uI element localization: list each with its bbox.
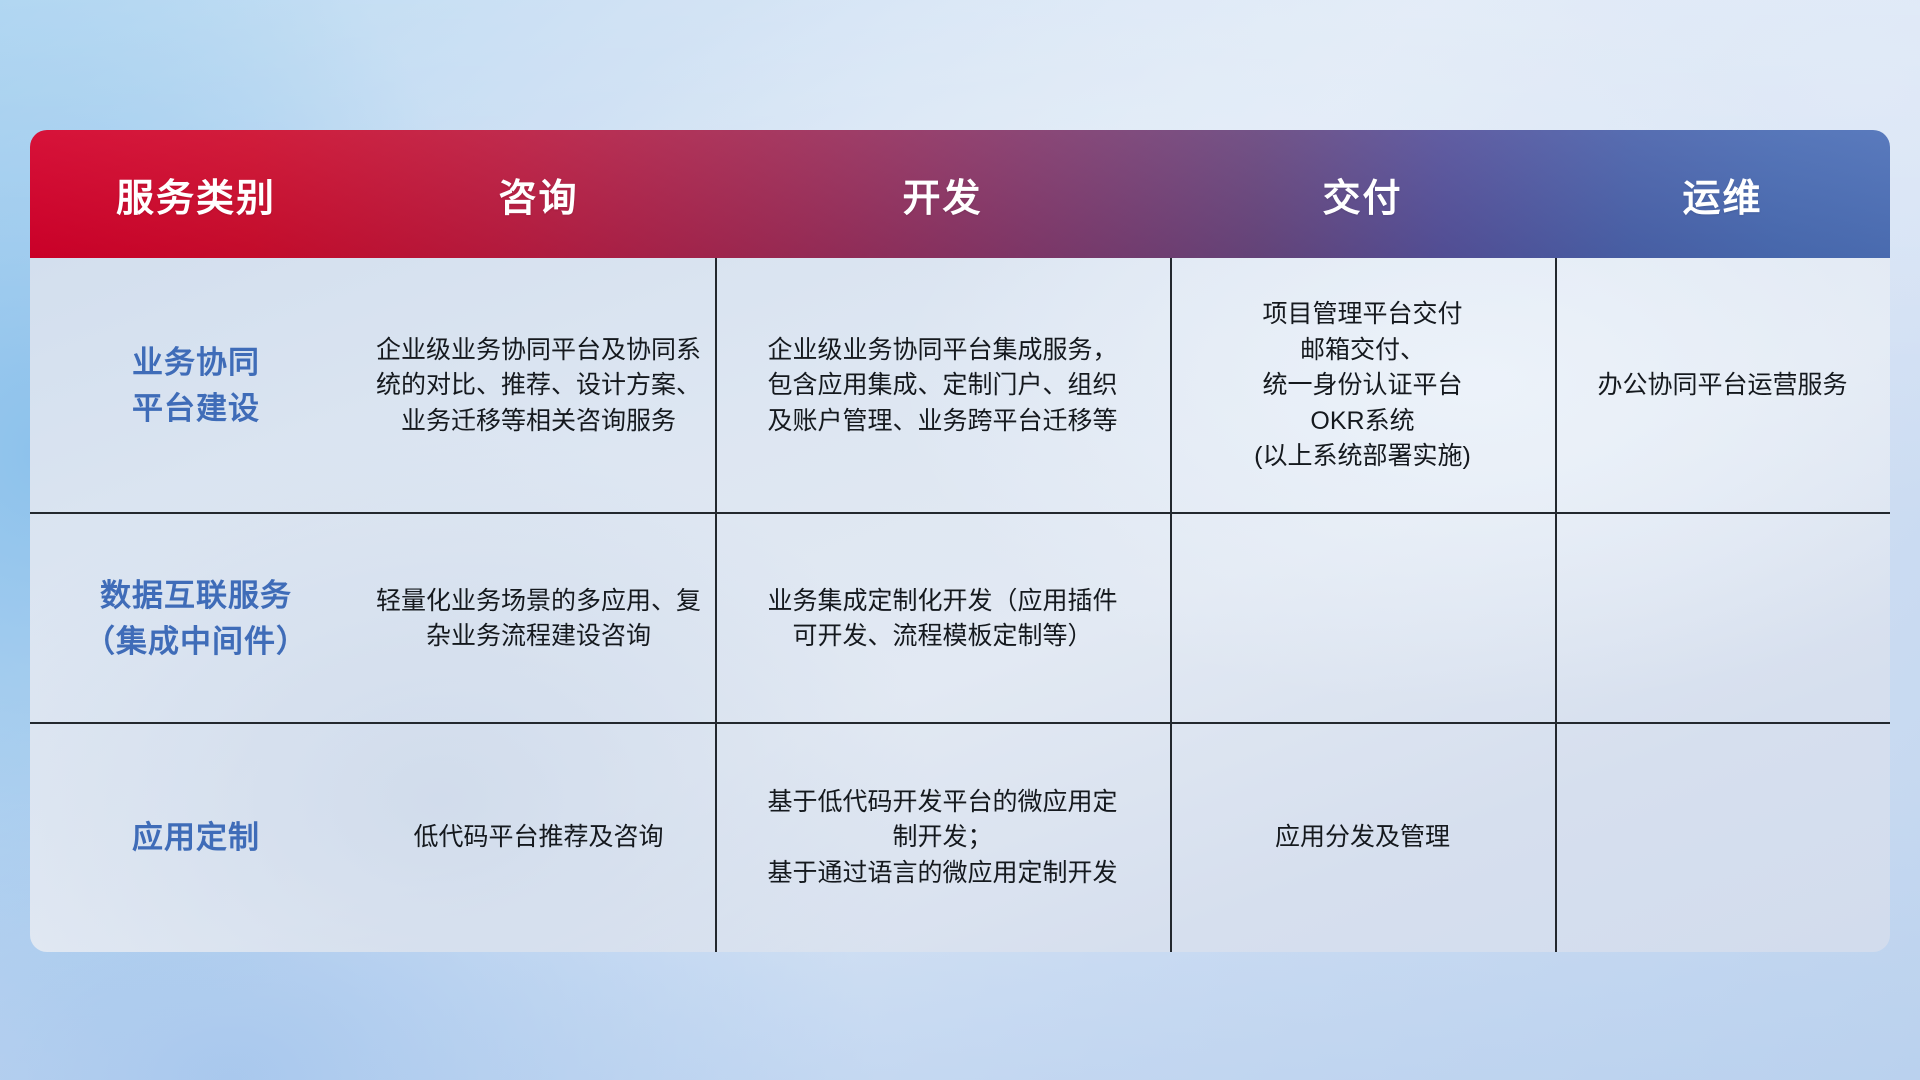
cell-delivery: 项目管理平台交付 邮箱交付、 统一身份认证平台 OKR系统 (以上系统部署实施) — [1170, 258, 1555, 514]
column-header-development: 开发 — [715, 130, 1170, 258]
cell-consulting: 轻量化业务场景的多应用、复 杂业务流程建设咨询 — [362, 514, 715, 724]
row-category-label: 应用定制 — [30, 724, 362, 952]
row-category-label: 业务协同 平台建设 — [30, 258, 362, 514]
cell-operations: 办公协同平台运营服务 — [1555, 258, 1890, 514]
service-matrix-table: 服务类别 咨询 开发 交付 运维 业务协同 平台建设 企业级业务协同平台及协同系… — [30, 130, 1890, 952]
table-row: 业务协同 平台建设 企业级业务协同平台及协同系 统的对比、推荐、设计方案、 业务… — [30, 258, 1890, 514]
vertical-divider-3 — [1555, 258, 1557, 952]
cell-development: 企业级业务协同平台集成服务， 包含应用集成、定制门户、组织 及账户管理、业务跨平… — [715, 258, 1170, 514]
table-body: 业务协同 平台建设 企业级业务协同平台及协同系 统的对比、推荐、设计方案、 业务… — [30, 258, 1890, 952]
cell-delivery — [1170, 514, 1555, 724]
row-divider-1 — [30, 512, 1890, 514]
column-header-delivery: 交付 — [1170, 130, 1555, 258]
row-category-label: 数据互联服务 （集成中间件） — [30, 514, 362, 724]
table-header-row: 服务类别 咨询 开发 交付 运维 — [30, 130, 1890, 258]
column-header-consulting: 咨询 — [362, 130, 715, 258]
cell-development: 基于低代码开发平台的微应用定 制开发； 基于通过语言的微应用定制开发 — [715, 724, 1170, 952]
cell-development: 业务集成定制化开发（应用插件 可开发、流程模板定制等） — [715, 514, 1170, 724]
cell-consulting: 企业级业务协同平台及协同系 统的对比、推荐、设计方案、 业务迁移等相关咨询服务 — [362, 258, 715, 514]
vertical-divider-1 — [715, 258, 717, 952]
column-header-category: 服务类别 — [30, 130, 362, 258]
cell-consulting: 低代码平台推荐及咨询 — [362, 724, 715, 952]
cell-delivery: 应用分发及管理 — [1170, 724, 1555, 952]
table-row: 应用定制 低代码平台推荐及咨询 基于低代码开发平台的微应用定 制开发； 基于通过… — [30, 724, 1890, 952]
cell-operations — [1555, 724, 1890, 952]
vertical-divider-2 — [1170, 258, 1172, 952]
cell-operations — [1555, 514, 1890, 724]
table-row: 数据互联服务 （集成中间件） 轻量化业务场景的多应用、复 杂业务流程建设咨询 业… — [30, 514, 1890, 724]
row-divider-2 — [30, 722, 1890, 724]
column-header-operations: 运维 — [1555, 130, 1890, 258]
